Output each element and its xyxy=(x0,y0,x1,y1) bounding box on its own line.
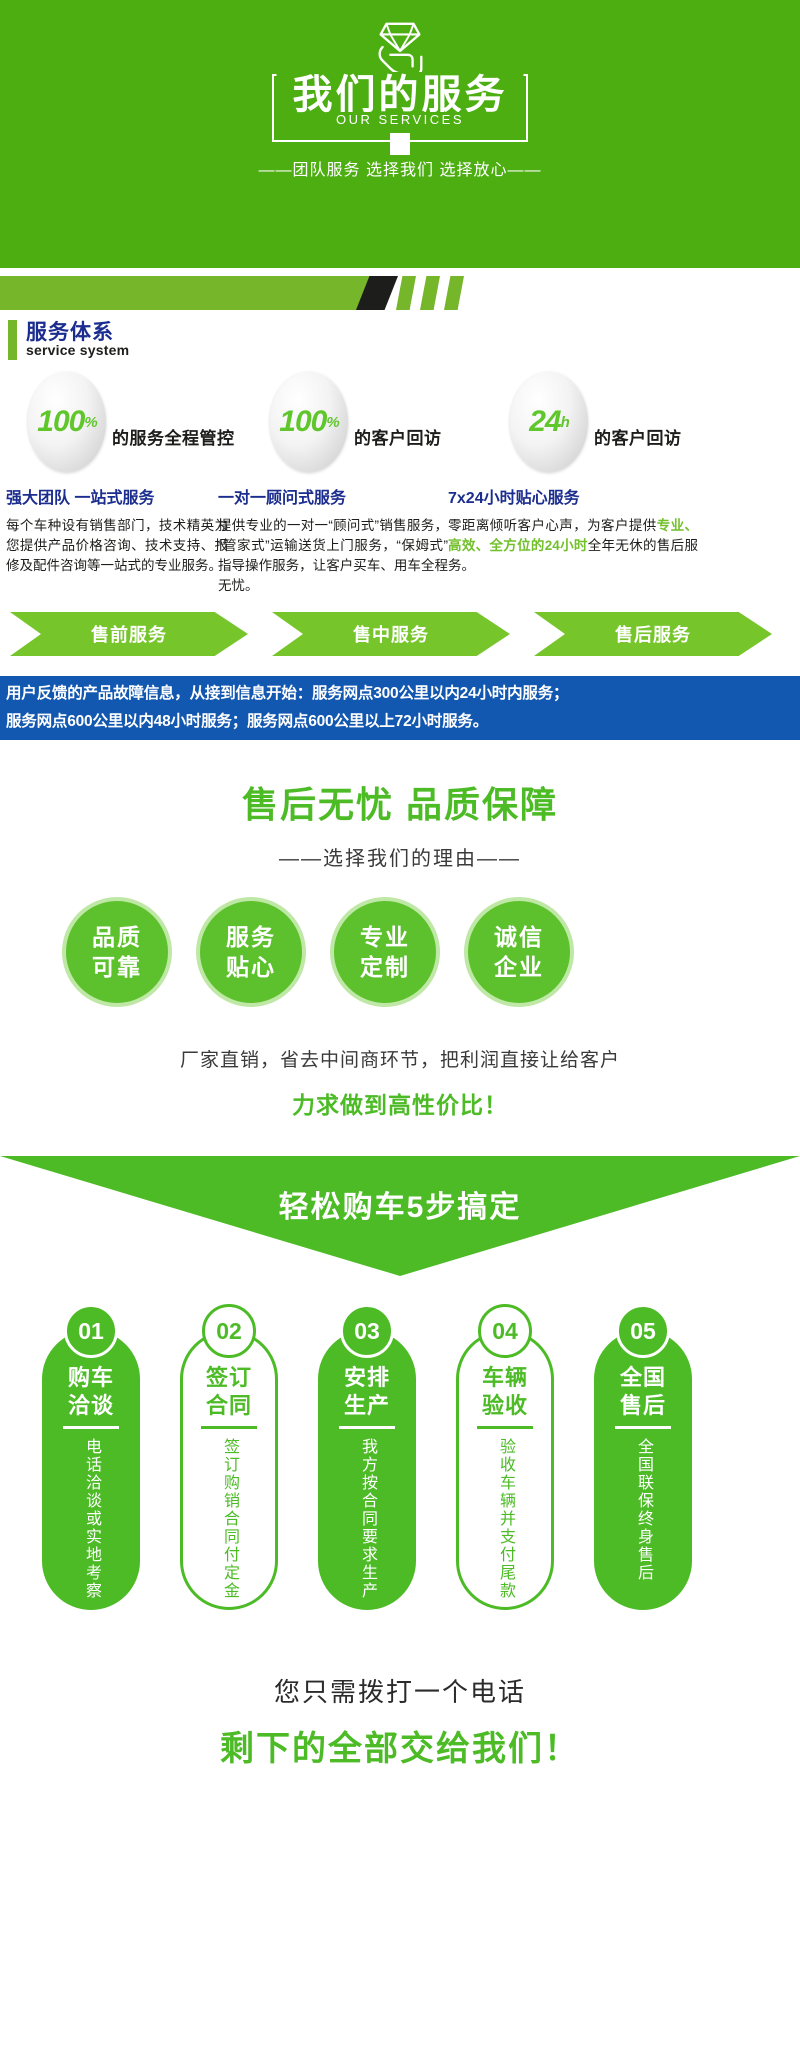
step-title: 签订 合同 xyxy=(174,1364,284,1420)
oval-line-1: 诚信 xyxy=(494,922,544,952)
response-time-banner: 用户反馈的产品故障信息，从接到信息开始：服务网点300公里以内24小时内服务； … xyxy=(0,676,800,740)
footer-line-2: 剩下的全部交给我们！ xyxy=(0,1721,800,1770)
step-title-line-1: 安排 xyxy=(312,1364,422,1392)
service-phase-arrows: 售前服务 售中服务 售后服务 xyxy=(0,612,800,662)
step-title-line-2: 验收 xyxy=(450,1392,560,1420)
column-body: 零距离倾听客户心声，为客户提供专业、高效、全方位的24小时全年无休的售后服务。 xyxy=(448,516,698,576)
step-title: 全国 售后 xyxy=(588,1364,698,1420)
sysbar-stripe-2 xyxy=(420,276,440,310)
step-description-text: 签订购销合同付定金 xyxy=(218,1438,240,1600)
phase-arrow[interactable]: 售中服务 xyxy=(272,612,510,656)
column-heading: 7x24小时贴心服务 xyxy=(448,484,698,508)
pitch-line-1: 厂家直销，省去中间商环节，把利润直接让给客户 xyxy=(0,1045,800,1072)
step-title-line-1: 签订 xyxy=(174,1364,284,1392)
column-heading: 强大团队 一站式服务 xyxy=(6,484,228,508)
step-number-circle: 04 xyxy=(478,1304,532,1358)
sysbar-body xyxy=(0,276,352,310)
badge-label: 的客户回访 xyxy=(354,424,442,449)
step-divider xyxy=(339,1426,395,1429)
badge-number: 100% xyxy=(28,372,106,472)
step-title-line-2: 生产 xyxy=(312,1392,422,1420)
purchase-steps-row: 01 购车 洽谈 电话洽谈或实地考察 02 签订 合同 签订购销合同付定金 03… xyxy=(0,1304,800,1634)
phase-arrow[interactable]: 售后服务 xyxy=(534,612,772,656)
phase-arrow-label: 售后服务 xyxy=(615,621,691,647)
oval-line-2: 贴心 xyxy=(226,952,276,982)
badge-number-value: 24 xyxy=(529,405,560,439)
sysbar-stripe-3 xyxy=(444,276,464,310)
badge-label: 的客户回访 xyxy=(594,424,682,449)
step-number-circle: 05 xyxy=(616,1304,670,1358)
step-divider xyxy=(615,1426,671,1429)
badge-number-value: 100 xyxy=(279,405,326,439)
service-column: 强大团队 一站式服务 每个车种设有销售部门，技术精英为您提供产品价格咨询、技术支… xyxy=(6,484,228,576)
step-divider xyxy=(63,1426,119,1429)
heading-tick-marker xyxy=(8,320,17,360)
stat-badge-row: 100% 的服务全程管控 100% 的客户回访 24h 的客户回访 xyxy=(0,372,800,484)
badge-number: 100% xyxy=(270,372,348,472)
step-description: 签订购销合同付定金 xyxy=(174,1438,284,1600)
footer-line-1: 您只需拨打一个电话 xyxy=(0,1672,800,1709)
steps-banner: 轻松购车5步搞定 xyxy=(0,1156,800,1276)
service-column: 7x24小时贴心服务 零距离倾听客户心声，为客户提供专业、高效、全方位的24小时… xyxy=(448,484,698,576)
step-number-circle: 02 xyxy=(202,1304,256,1358)
oval-line-1: 专业 xyxy=(360,922,410,952)
step-description-text: 全国联保终身售后 xyxy=(632,1438,654,1582)
step-divider xyxy=(201,1426,257,1429)
badge-number-unit: h xyxy=(561,414,569,431)
stat-badge: 100% 的客户回访 xyxy=(250,372,500,476)
steps-banner-label: 轻松购车5步搞定 xyxy=(0,1182,800,1226)
badge-number-value: 100 xyxy=(37,405,84,439)
step-divider xyxy=(477,1426,533,1429)
step-title-line-1: 全国 xyxy=(588,1364,698,1392)
oval-line-2: 企业 xyxy=(494,952,544,982)
why-us-oval-row: 品质 可靠 服务 贴心 专业 定制 诚信 企业 xyxy=(0,897,800,1017)
hero-frame-notch xyxy=(390,133,410,155)
service-system-bar xyxy=(0,276,800,312)
oval-line-2: 可靠 xyxy=(92,952,142,982)
diamond-in-hand-icon xyxy=(369,18,431,80)
oval-line-2: 定制 xyxy=(360,952,410,982)
step-description: 验收车辆并支付尾款 xyxy=(450,1438,560,1600)
step-title: 安排 生产 xyxy=(312,1364,422,1420)
hero-tagline: ——团队服务 选择我们 选择放心—— xyxy=(0,156,800,180)
step-title-line-2: 洽谈 xyxy=(36,1392,146,1420)
why-us-oval: 服务 贴心 xyxy=(196,897,306,1007)
badge-number-unit: % xyxy=(84,414,96,431)
hero-subtitle-en: OUR SERVICES xyxy=(328,112,472,127)
step-title-line-1: 购车 xyxy=(36,1364,146,1392)
step-title-line-2: 售后 xyxy=(588,1392,698,1420)
stat-badge: 100% 的服务全程管控 xyxy=(8,372,258,476)
column-heading: 一对一顾问式服务 xyxy=(218,484,448,508)
response-banner-line-1: 用户反馈的产品故障信息，从接到信息开始：服务网点300公里以内24小时内服务； xyxy=(0,680,800,708)
badge-label: 的服务全程管控 xyxy=(112,424,235,449)
step-description-text: 我方按合同要求生产 xyxy=(356,1438,378,1600)
oval-line-1: 服务 xyxy=(226,922,276,952)
service-system-heading: 服务体系 service system xyxy=(0,318,800,366)
step-title-line-2: 合同 xyxy=(174,1392,284,1420)
step-description: 全国联保终身售后 xyxy=(588,1438,698,1582)
why-us-oval: 诚信 企业 xyxy=(464,897,574,1007)
sysbar-stripe-1 xyxy=(396,276,416,310)
step-description: 我方按合同要求生产 xyxy=(312,1438,422,1600)
service-column: 一对一顾问式服务 提供专业的一对一“顾问式”销售服务，“管家式”运输送货上门服务… xyxy=(218,484,448,596)
response-banner-line-2: 服务网点600公里以内48小时服务；服务网点600公里以上72小时服务。 xyxy=(0,708,800,736)
column-body: 提供专业的一对一“顾问式”销售服务，“管家式”运输送货上门服务，“保姆式”指导操… xyxy=(218,516,448,596)
phase-arrow-label: 售中服务 xyxy=(353,621,429,647)
step-description: 电话洽谈或实地考察 xyxy=(36,1438,146,1600)
badge-number: 24h xyxy=(510,372,588,472)
service-infographic-page: 我们的服务 OUR SERVICES ——团队服务 选择我们 选择放心—— 服务… xyxy=(0,0,800,2061)
stat-badge: 24h 的客户回访 xyxy=(490,372,740,476)
column-body: 每个车种设有销售部门，技术精英为您提供产品价格咨询、技术支持、报修及配件咨询等一… xyxy=(6,516,228,576)
column-body-part1: 零距离倾听客户心声，为客户提供 xyxy=(448,518,657,533)
badge-number-unit: % xyxy=(326,414,338,431)
step-title: 购车 洽谈 xyxy=(36,1364,146,1420)
service-columns: 强大团队 一站式服务 每个车种设有销售部门，技术精英为您提供产品价格咨询、技术支… xyxy=(0,484,800,606)
pitch-line-2: 力求做到高性价比！ xyxy=(0,1086,800,1120)
phase-arrow[interactable]: 售前服务 xyxy=(10,612,248,656)
oval-line-1: 品质 xyxy=(92,922,142,952)
step-description-text: 电话洽谈或实地考察 xyxy=(80,1438,102,1600)
step-title: 车辆 验收 xyxy=(450,1364,560,1420)
why-us-oval: 专业 定制 xyxy=(330,897,440,1007)
step-number-circle: 03 xyxy=(340,1304,394,1358)
why-us-subtitle: ——选择我们的理由—— xyxy=(0,842,800,871)
service-system-title-en: service system xyxy=(26,342,129,358)
why-us-title: 售后无忧 品质保障 xyxy=(0,776,800,828)
why-us-oval: 品质 可靠 xyxy=(62,897,172,1007)
step-number-circle: 01 xyxy=(64,1304,118,1358)
step-description-text: 验收车辆并支付尾款 xyxy=(494,1438,516,1600)
step-title-line-1: 车辆 xyxy=(450,1364,560,1392)
phase-arrow-label: 售前服务 xyxy=(91,621,167,647)
hero-section: 我们的服务 OUR SERVICES ——团队服务 选择我们 选择放心—— xyxy=(0,0,800,268)
